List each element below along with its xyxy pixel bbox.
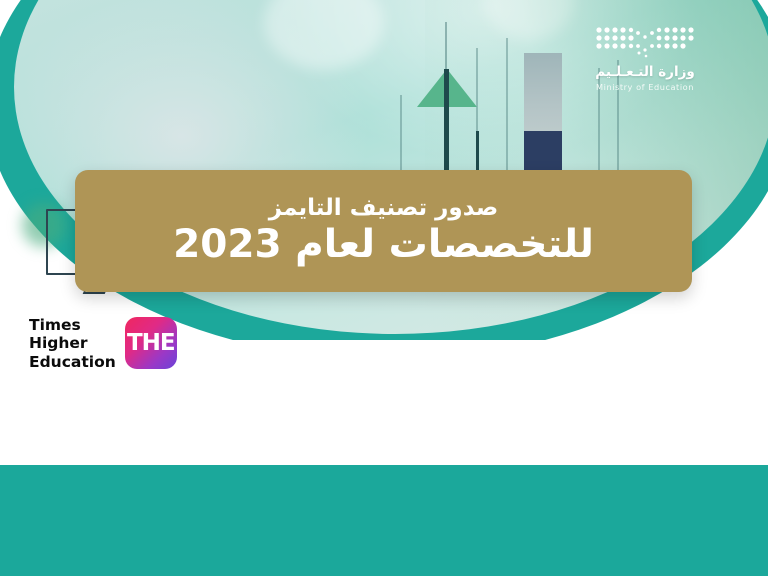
up-arrow-guide: [445, 22, 447, 72]
ministry-name-arabic: وزارة التـعـلـيم: [580, 65, 710, 80]
announcement-graphic: وزارة التـعـلـيم Ministry of Education ص…: [0, 0, 768, 576]
banner-subtitle: صدور تصنيف التايمز: [269, 195, 498, 221]
the-wordmark: Times Higher Education: [29, 316, 116, 371]
the-badge-icon: THE: [125, 317, 177, 369]
ministry-of-education-logo: وزارة التـعـلـيم Ministry of Education: [580, 24, 710, 92]
the-word-times: Times: [29, 316, 116, 334]
title-banner: صدور تصنيف التايمز للتخصصات لعام 2023: [75, 170, 692, 292]
times-higher-education-logo: THE Times Higher Education: [29, 316, 177, 371]
backdrop-highlight-blob: [264, 0, 384, 70]
banner-title: للتخصصات لعام 2023: [173, 223, 594, 267]
ministry-of-education-emblem-icon: [593, 24, 697, 58]
the-badge-text: THE: [127, 330, 175, 356]
the-word-education: Education: [29, 353, 116, 371]
guide-line: [400, 95, 402, 171]
footer-band: [0, 465, 768, 576]
tall-bar-base: [524, 131, 562, 171]
backdrop-highlight-blob: [484, 0, 574, 40]
up-arrow-stem: [444, 69, 449, 170]
the-word-higher: Higher: [29, 334, 116, 352]
ministry-name-english: Ministry of Education: [580, 82, 710, 92]
